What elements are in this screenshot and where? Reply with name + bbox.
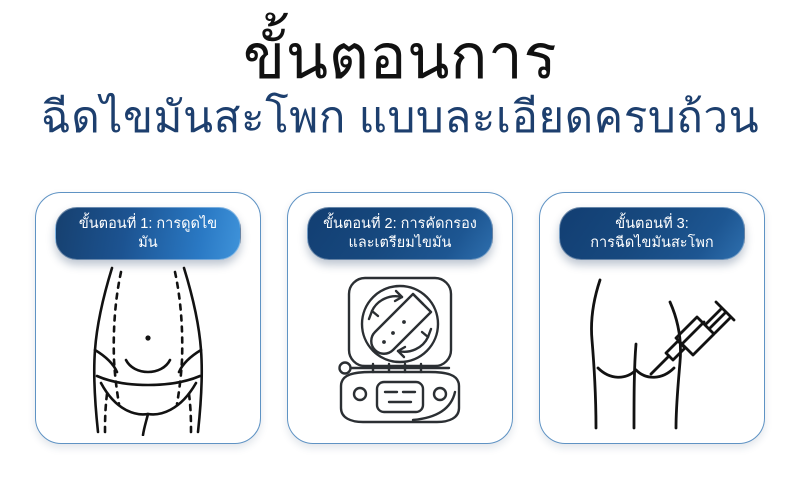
step-badge-1: ขั้นตอนที่ 1: การดูดไขมัน (55, 207, 241, 260)
step-badge-2: ขั้นตอนที่ 2: การคัดกรอง และเตรียมไขมัน (307, 207, 493, 260)
step-badge-2-line-1: ขั้นตอนที่ 2: การคัดกรอง (322, 215, 478, 234)
page-header: ขั้นตอนการ ฉีดไขมันสะโพก แบบละเอียดครบถ้… (0, 0, 800, 141)
step-badge-3-line-1: ขั้นตอนที่ 3: (574, 215, 730, 234)
step-badge-1-line-1: ขั้นตอนที่ 1: การดูดไขมัน (70, 215, 226, 252)
step-badge-2-line-2: และเตรียมไขมัน (322, 234, 478, 253)
buttocks-syringe-injection-diagram (540, 263, 764, 437)
step-card-1[interactable]: ขั้นตอนที่ 1: การดูดไขมัน (35, 192, 261, 444)
step-badge-3: ขั้นตอนที่ 3: การฉีดไขมันสะโพก (559, 207, 745, 260)
step-card-3[interactable]: ขั้นตอนที่ 3: การฉีดไขมันสะโพก (539, 192, 765, 444)
page-title: ขั้นตอนการ (0, 26, 800, 89)
steps-card-row: ขั้นตอนที่ 1: การดูดไขมัน (0, 192, 800, 444)
page-subtitle: ฉีดไขมันสะโพก แบบละเอียดครบถ้วน (0, 95, 800, 141)
step-card-2[interactable]: ขั้นตอนที่ 2: การคัดกรอง และเตรียมไขมัน (287, 192, 513, 444)
centrifuge-test-tube-diagram (288, 263, 512, 437)
step-badge-3-line-2: การฉีดไขมันสะโพก (574, 234, 730, 253)
abdomen-liposuction-diagram (36, 263, 260, 437)
